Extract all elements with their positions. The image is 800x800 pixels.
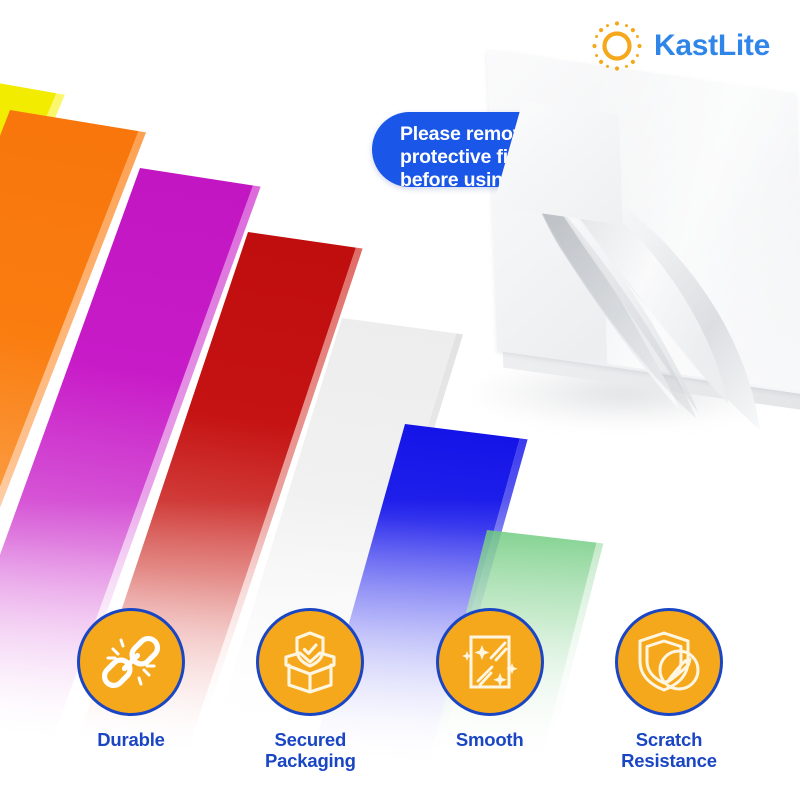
- feature-secured-packaging: Secured Packaging: [235, 608, 385, 772]
- product-image-canvas: Please remove the protective film before…: [0, 0, 800, 800]
- feature-icon-badge: [77, 608, 185, 716]
- feature-icon-badge: [436, 608, 544, 716]
- feature-smooth: Smooth: [415, 608, 565, 772]
- chain-link-icon: [99, 630, 163, 694]
- feature-durable: Durable: [56, 608, 206, 772]
- feature-label: Durable: [97, 729, 164, 751]
- feature-label: Smooth: [456, 729, 524, 751]
- feature-label: Scratch Resistance: [621, 729, 717, 772]
- feature-icon-badge: [256, 608, 364, 716]
- brand-logo: KastLite: [589, 18, 770, 74]
- feature-icon-badge: [615, 608, 723, 716]
- sparkling-panel-icon: [457, 629, 523, 695]
- feature-list: Durable Secured Packaging: [0, 608, 800, 772]
- shield-box-icon: [276, 629, 344, 695]
- brand-wordmark: KastLite: [654, 31, 770, 61]
- feature-scratch-resistance: Scratch Resistance: [594, 608, 744, 772]
- sun-icon: [589, 18, 645, 74]
- feature-label: Secured Packaging: [265, 729, 356, 772]
- shield-knife-icon: [635, 629, 703, 695]
